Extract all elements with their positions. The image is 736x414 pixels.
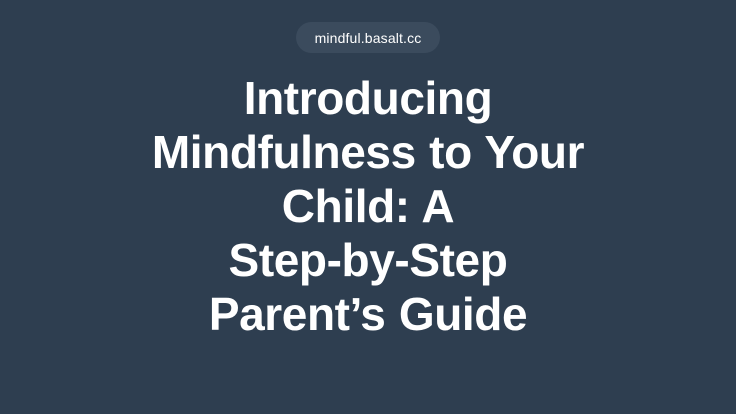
site-domain-label: mindful.basalt.cc <box>315 31 422 45</box>
site-domain-badge: mindful.basalt.cc <box>296 22 441 53</box>
headline-line-5: Parent’s Guide <box>133 287 603 341</box>
headline-line-2: Mindfulness to Your <box>133 125 603 179</box>
headline-line-4: Step-by-Step <box>133 233 603 287</box>
headline-line-3: Child: A <box>133 179 603 233</box>
headline-container: Introducing Mindfulness to Your Child: A… <box>0 71 736 341</box>
share-card: mindful.basalt.cc Introducing Mindfulnes… <box>0 0 736 414</box>
page-title: Introducing Mindfulness to Your Child: A… <box>133 71 603 341</box>
headline-line-1: Introducing <box>133 71 603 125</box>
